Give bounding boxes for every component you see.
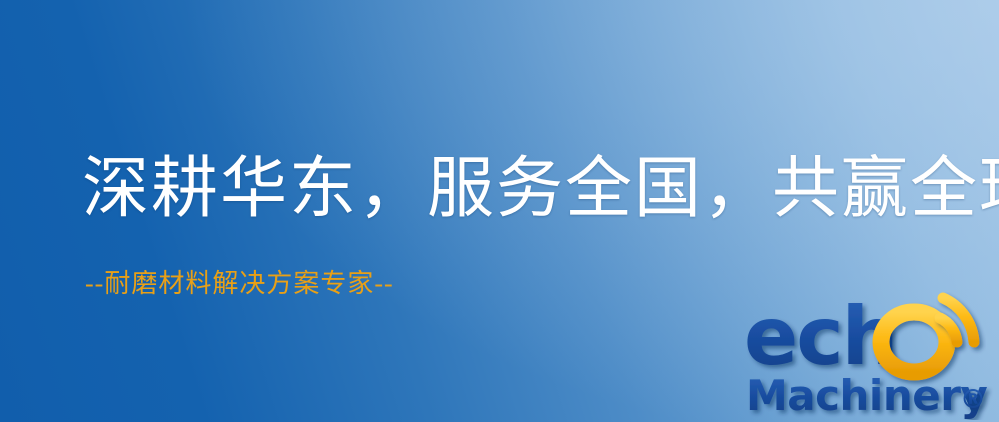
hero-banner: 深耕华东，服务全国，共赢全球 --耐磨材料解决方案专家-- [0,0,999,422]
banner-subtitle: --耐磨材料解决方案专家-- [85,268,394,300]
banner-headline: 深耕华东，服务全国，共赢全球 [82,150,999,228]
svg-text:Machinery: Machinery [746,371,987,420]
echo-machinery-logo[interactable]: ech Machinery ® [744,292,996,420]
logo-tagline-machinery-text: Machinery [746,371,987,420]
svg-text:®: ® [960,385,986,415]
logo-registered-mark: ® [960,385,986,415]
